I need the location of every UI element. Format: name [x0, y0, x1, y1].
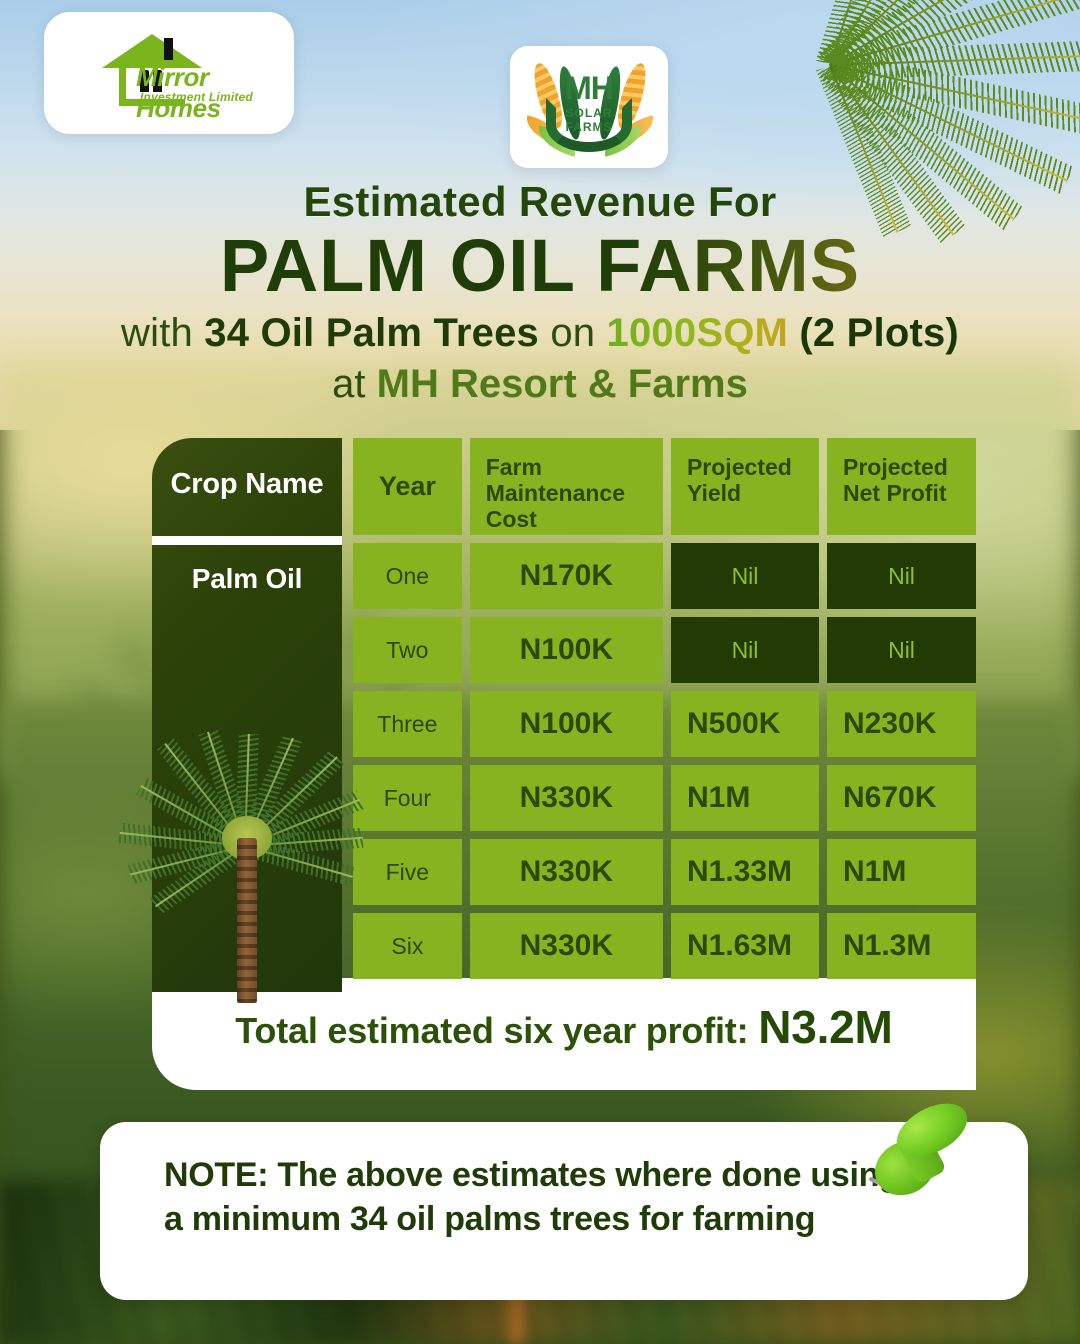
solar-label: SOLAR	[510, 106, 668, 120]
cell-maintenance: N330K	[470, 913, 663, 979]
cell-profit: N230K	[827, 691, 976, 757]
table-row: Three N100K N500K N230K	[353, 691, 976, 757]
header-maintenance: Farm Maintenance Cost	[470, 438, 663, 535]
cell-maintenance: N170K	[470, 543, 663, 609]
table-row: Two N100K Nil Nil	[353, 617, 976, 683]
crop-panel-divider	[152, 536, 342, 545]
cell-maintenance: N100K	[470, 691, 663, 757]
headline-title: PALM OIL FARMS	[0, 228, 1080, 303]
table-header-row: Year Farm Maintenance Cost Projected Yie…	[353, 438, 976, 535]
headline-line-1: Estimated Revenue For	[0, 178, 1080, 226]
headline-place: MH Resort & Farms	[377, 362, 748, 406]
note-text: NOTE: The above estimates where done usi…	[164, 1154, 904, 1241]
cell-maintenance: N330K	[470, 839, 663, 905]
cell-profit: N670K	[827, 765, 976, 831]
cell-year: One	[353, 543, 462, 609]
table-row: Six N330K N1.63M N1.3M	[353, 913, 976, 979]
cell-profit: N1M	[827, 839, 976, 905]
pushpin-icon	[866, 1104, 976, 1214]
mh-initials: MH	[510, 72, 668, 104]
headline-line-3: with 34 Oil Palm Trees on 1000SQM (2 Plo…	[0, 311, 1080, 356]
mirror-homes-subtitle: Investment Limited	[140, 90, 253, 104]
total-profit-card: Total estimated six year profit: N3.2M	[152, 978, 976, 1090]
crop-name-value: Palm Oil	[152, 563, 342, 595]
cell-maintenance: N330K	[470, 765, 663, 831]
table-row: One N170K Nil Nil	[353, 543, 976, 609]
cell-yield: Nil	[671, 543, 819, 609]
cell-profit: N1.3M	[827, 913, 976, 979]
headline-on: on	[539, 311, 607, 355]
crop-name-panel: Crop Name Palm Oil	[152, 438, 342, 992]
headline-block: Estimated Revenue For PALM OIL FARMS wit…	[0, 178, 1080, 407]
table-grid: Year Farm Maintenance Cost Projected Yie…	[353, 438, 976, 987]
cell-year: Five	[353, 839, 462, 905]
table-row: Five N330K N1.33M N1M	[353, 839, 976, 905]
cell-year: Six	[353, 913, 462, 979]
cell-yield: N500K	[671, 691, 819, 757]
headline-line-4: at MH Resort & Farms	[0, 362, 1080, 407]
crop-name-header: Crop Name	[152, 468, 342, 501]
wheat-emblem-icon: MH SOLAR FARMS	[510, 46, 668, 168]
total-profit-line: Total estimated six year profit: N3.2M	[152, 1000, 976, 1054]
note-card: NOTE: The above estimates where done usi…	[100, 1122, 1028, 1300]
cell-yield: N1M	[671, 765, 819, 831]
headline-with: with	[121, 311, 204, 355]
cell-maintenance: N100K	[470, 617, 663, 683]
cell-profit: Nil	[827, 617, 976, 683]
mirror-homes-logo: Mirror Homes Investment Limited	[44, 12, 294, 134]
header-yield: Projected Yield	[671, 438, 819, 535]
total-amount: N3.2M	[758, 1001, 893, 1053]
table-row: Four N330K N1M N670K	[353, 765, 976, 831]
cell-yield: N1.33M	[671, 839, 819, 905]
cell-year: Four	[353, 765, 462, 831]
total-label: Total estimated six year profit:	[235, 1010, 748, 1051]
cell-yield: N1.63M	[671, 913, 819, 979]
cell-year: Two	[353, 617, 462, 683]
mh-solar-farms-logo: MH SOLAR FARMS	[510, 46, 668, 168]
cell-yield: Nil	[671, 617, 819, 683]
cell-year: Three	[353, 691, 462, 757]
headline-at: at	[332, 362, 376, 406]
farms-label: FARMS	[510, 120, 668, 134]
header-year: Year	[353, 438, 462, 535]
headline-sqm: 1000SQM	[607, 311, 789, 355]
header-net-profit: Projected Net Profit	[827, 438, 976, 535]
headline-trees: 34 Oil Palm Trees	[204, 311, 539, 355]
cell-profit: Nil	[827, 543, 976, 609]
headline-plots: (2 Plots)	[799, 311, 959, 355]
